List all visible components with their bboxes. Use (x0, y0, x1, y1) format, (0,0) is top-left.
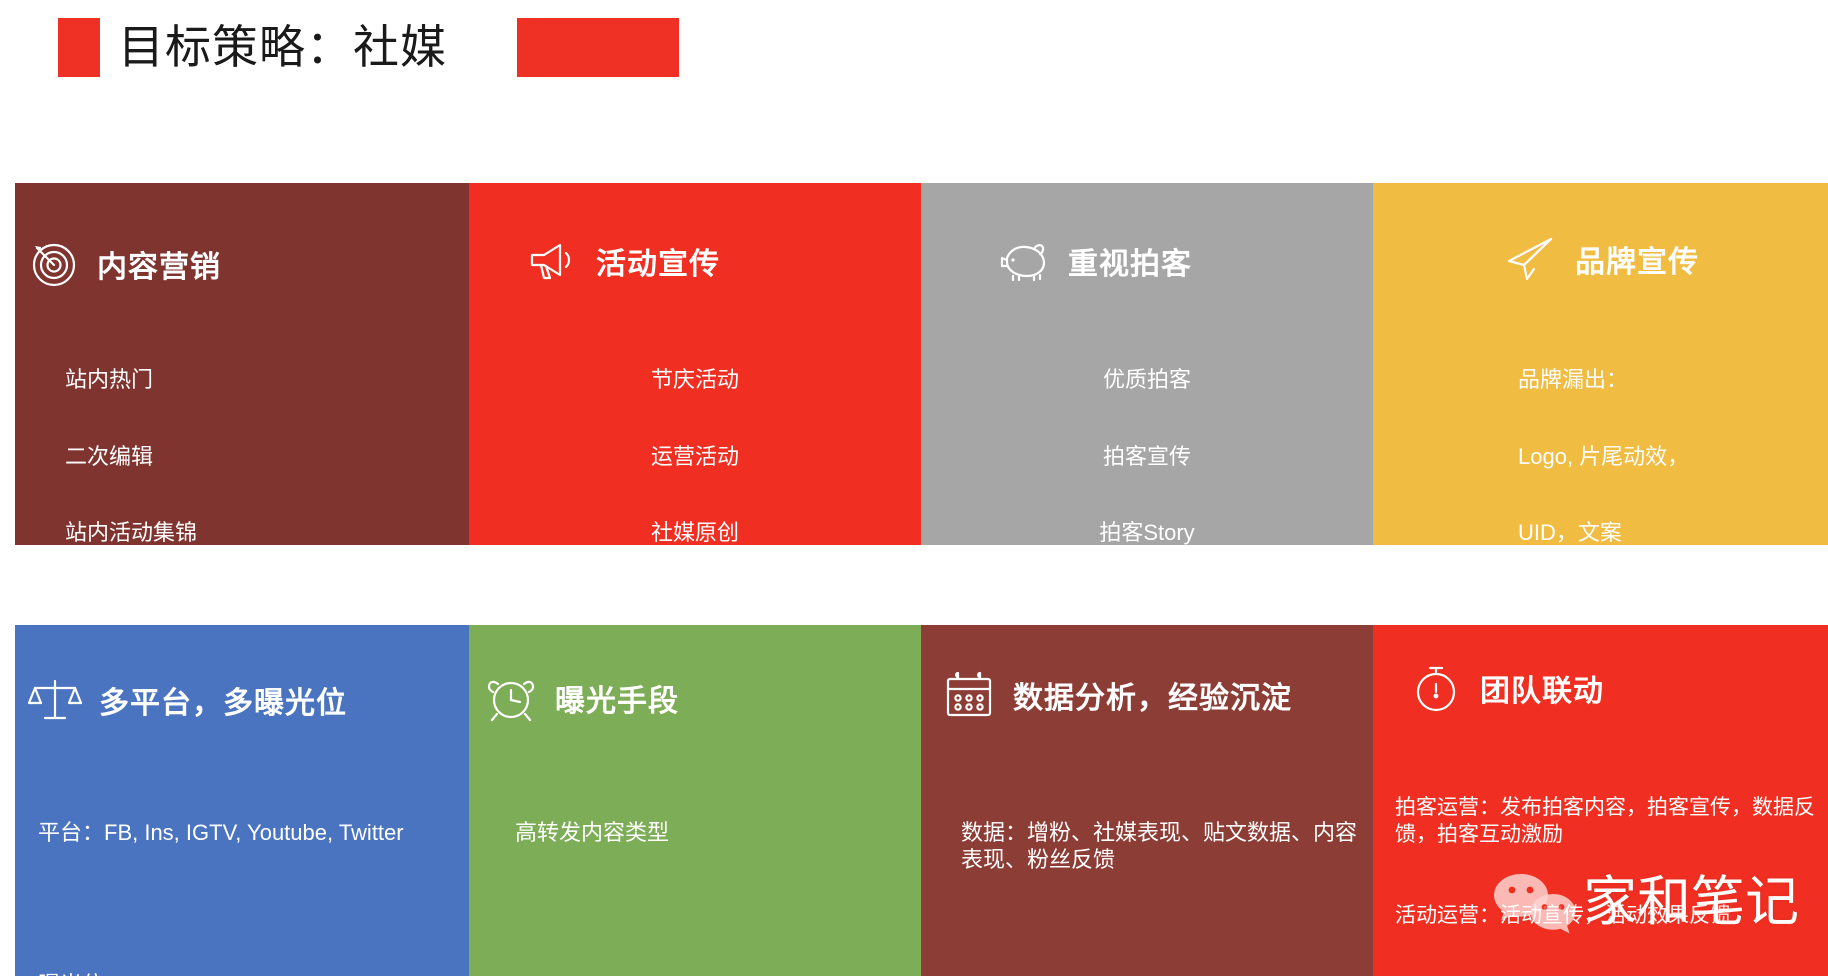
slide-header: 目标策略：社媒 (0, 0, 1828, 150)
list-item: UID，文案 (1518, 520, 1689, 545)
card-title: 活动宣传 (596, 239, 720, 283)
list-item: 活动运营：活动宣传，活动效果反馈 (1395, 902, 1825, 929)
calendar-icon (941, 667, 997, 723)
card-body: 节庆活动 运营活动 社媒原创 (469, 316, 921, 545)
card-team-sync[interactable]: 团队联动 拍客运营：发布拍客内容，拍客宣传，数据反馈，拍客互动激励 活动运营：活… (1373, 625, 1828, 976)
card-body: 数据：增粉、社媒表现、贴文数据、内容表现、粉丝反馈 经验：周报，优质拍客反馈，优… (961, 765, 1361, 976)
balance-scale-icon (27, 672, 83, 728)
list-item: 二次编辑 (65, 444, 197, 470)
paragraph-spacer (38, 898, 428, 920)
card-body: 站内热门 二次编辑 站内活动集锦 排行榜 UGC精选 Story (65, 316, 197, 545)
list-item: 站内热门 (65, 367, 197, 393)
card-body: 高转发内容类型 Boost 奖励、节庆活动促进自传播 (515, 768, 905, 976)
card-body: 平台：FB, Ins, IGTV, Youtube, Twitter 曝光位：F… (38, 768, 428, 976)
card-row-2: 多平台，多曝光位 平台：FB, Ins, IGTV, Youtube, Twit… (15, 625, 1828, 976)
card-title: 多平台，多曝光位 (99, 678, 347, 722)
card-heading: 品牌宣传 (1503, 231, 1699, 287)
list-item: 运营活动 (469, 444, 921, 470)
paragraph: 曝光位：FB Feed, Ins Feed, FB Story, Ins Sto… (38, 972, 428, 976)
paragraph: 平台：FB, Ins, IGTV, Youtube, Twitter (38, 820, 428, 846)
megaphone-icon (524, 233, 580, 289)
stopwatch-icon (1408, 660, 1464, 716)
paper-plane-icon (1503, 231, 1559, 287)
card-title: 品牌宣传 (1575, 237, 1699, 281)
card-row-1: 内容营销 站内热门 二次编辑 站内活动集锦 排行榜 UGC精选 Story 活动… (15, 183, 1828, 545)
card-heading: 曝光手段 (483, 670, 679, 726)
piggy-bank-icon (996, 233, 1052, 289)
paragraph: Boost (515, 972, 905, 976)
card-title: 曝光手段 (555, 676, 679, 720)
card-title: 团队联动 (1480, 666, 1604, 710)
paragraph: 高转发内容类型 (515, 820, 905, 846)
card-data-analysis[interactable]: 数据分析，经验沉淀 数据：增粉、社媒表现、贴文数据、内容表现、粉丝反馈 经验：周… (921, 625, 1373, 976)
card-heading: 团队联动 (1408, 660, 1604, 716)
alarm-clock-icon (483, 670, 539, 726)
list-item: 拍客运营：发布拍客内容，拍客宣传，数据反馈，拍客互动激励 (1395, 794, 1825, 848)
card-heading: 多平台，多曝光位 (27, 672, 347, 728)
header-accent-bar (58, 18, 100, 77)
card-title: 重视拍客 (1068, 239, 1192, 283)
card-heading: 活动宣传 (524, 233, 720, 289)
card-body: 拍客运营：发布拍客内容，拍客宣传，数据反馈，拍客互动激励 活动运营：活动宣传，活… (1395, 740, 1825, 976)
card-title: 数据分析，经验沉淀 (1013, 673, 1292, 717)
list-item: 优质拍客 (921, 367, 1373, 393)
list-item: 拍客Story (921, 520, 1373, 545)
card-brand-promotion[interactable]: 品牌宣传 品牌漏出： Logo, 片尾动效， UID，文案 品宣贴文 (1373, 183, 1828, 545)
paragraph: 数据：增粉、社媒表现、贴文数据、内容表现、粉丝反馈 (961, 819, 1361, 873)
card-content-marketing[interactable]: 内容营销 站内热门 二次编辑 站内活动集锦 排行榜 UGC精选 Story (15, 183, 469, 545)
header-red-block (517, 18, 679, 77)
card-heading: 数据分析，经验沉淀 (941, 667, 1292, 723)
list-item: 品牌漏出： (1518, 367, 1689, 393)
card-exposure-method[interactable]: 曝光手段 高转发内容类型 Boost 奖励、节庆活动促进自传播 (469, 625, 921, 976)
card-body: 优质拍客 拍客宣传 拍客Story 拍客互动 拍客发现 (921, 316, 1373, 545)
list-item: 节庆活动 (469, 367, 921, 393)
card-heading: 内容营销 (25, 236, 221, 292)
list-item: 拍客宣传 (921, 444, 1373, 470)
target-icon (25, 236, 81, 292)
card-multi-platform[interactable]: 多平台，多曝光位 平台：FB, Ins, IGTV, Youtube, Twit… (15, 625, 469, 976)
card-heading: 重视拍客 (996, 233, 1192, 289)
list-item: 站内活动集锦 (65, 520, 197, 545)
card-event-promotion[interactable]: 活动宣传 节庆活动 运营活动 社媒原创 (469, 183, 921, 545)
card-value-creators[interactable]: 重视拍客 优质拍客 拍客宣传 拍客Story 拍客互动 拍客发现 (921, 183, 1373, 545)
page-title: 目标策略：社媒 (118, 14, 447, 80)
list-item: 社媒原创 (469, 520, 921, 545)
card-body: 品牌漏出： Logo, 片尾动效， UID，文案 品宣贴文 (1518, 316, 1689, 545)
list-item: Logo, 片尾动效， (1518, 444, 1689, 470)
paragraph-spacer (961, 927, 1361, 949)
paragraph-spacer (515, 898, 905, 920)
card-title: 内容营销 (97, 242, 221, 286)
